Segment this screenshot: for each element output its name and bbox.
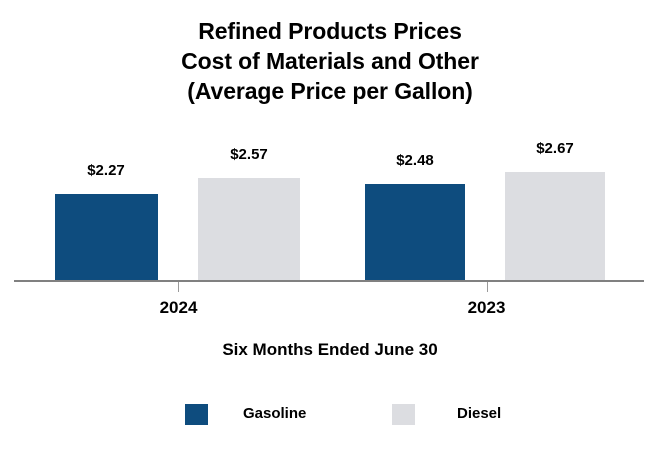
x-axis-title: Six Months Ended June 30 [0,340,660,360]
bar-chart: Refined Products Prices Cost of Material… [0,0,660,460]
bar-diesel-2024[interactable] [198,178,300,281]
legend-label-diesel: Diesel [457,403,501,425]
x-axis-line [14,280,644,282]
bar-gasoline-2024[interactable] [55,194,158,281]
bar-gasoline-2023[interactable] [365,184,465,281]
bar-diesel-2023[interactable] [505,172,605,281]
plot-area: $2.27 $2.57 $2.48 $2.67 2024 2023 Six Mo… [0,0,660,460]
legend-item-gasoline[interactable]: Gasoline [185,403,306,425]
x-axis-tick-2023 [487,282,488,292]
x-axis-label-2023: 2023 [428,298,545,318]
x-axis-tick-2024 [178,282,179,292]
legend-label-gasoline: Gasoline [243,403,306,425]
legend-swatch-gasoline-icon [185,404,208,425]
chart-legend: Gasoline Diesel [0,403,660,427]
bar-value-label-gasoline-2023: $2.48 [365,153,465,169]
bar-value-label-diesel-2024: $2.57 [199,147,299,163]
legend-swatch-diesel-icon [392,404,415,425]
legend-item-diesel[interactable]: Diesel [392,403,501,425]
x-axis-label-2024: 2024 [120,298,237,318]
bar-value-label-gasoline-2024: $2.27 [56,163,156,179]
bar-value-label-diesel-2023: $2.67 [505,141,605,157]
